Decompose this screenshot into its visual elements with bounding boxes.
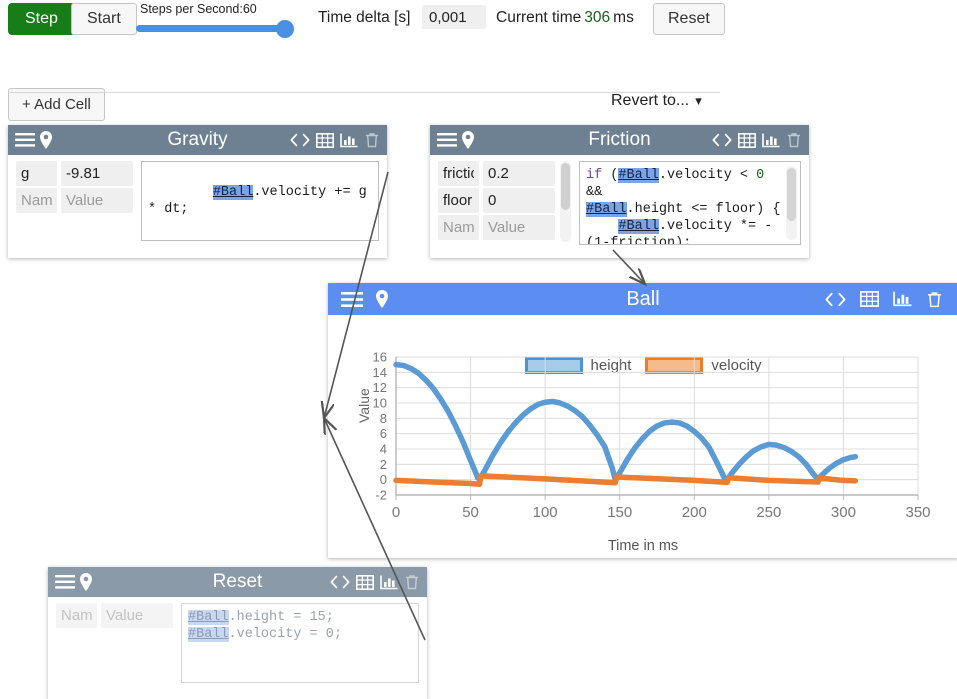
steps-per-second-label: Steps per Second:60 bbox=[136, 2, 308, 16]
param-list-scrollbar[interactable] bbox=[560, 161, 571, 242]
current-time-unit: ms bbox=[613, 9, 634, 26]
param-list bbox=[16, 161, 133, 241]
cell-gravity-header: Gravity bbox=[8, 125, 387, 155]
new-param-name-input[interactable] bbox=[16, 188, 57, 213]
code-text: .height = 15; bbox=[229, 610, 334, 625]
svg-text:16: 16 bbox=[373, 350, 387, 365]
param-row-new bbox=[16, 188, 133, 213]
new-param-value-input[interactable] bbox=[101, 603, 173, 628]
cell-reference[interactable]: #Ball bbox=[188, 627, 229, 642]
param-row bbox=[438, 161, 555, 186]
toolbar-divider bbox=[8, 92, 720, 93]
revert-to-dropdown[interactable]: Revert to...▾ bbox=[611, 92, 702, 110]
svg-text:0: 0 bbox=[380, 472, 387, 487]
chart-icon[interactable] bbox=[762, 133, 780, 148]
param-value-input[interactable] bbox=[483, 161, 555, 186]
param-name-input[interactable] bbox=[438, 188, 479, 213]
cell-friction[interactable]: Friction bbox=[430, 125, 809, 258]
svg-text:6: 6 bbox=[380, 426, 387, 441]
chevron-down-icon: ▾ bbox=[695, 93, 702, 109]
cell-reset-header: Reset bbox=[48, 567, 427, 597]
menu-icon[interactable] bbox=[437, 133, 457, 147]
steps-per-second-control: Steps per Second:60 bbox=[136, 2, 308, 37]
cell-reference[interactable]: #Ball bbox=[188, 610, 229, 625]
code-icon[interactable] bbox=[825, 292, 846, 307]
svg-text:50: 50 bbox=[462, 504, 479, 521]
code-editor[interactable]: #Ball.velocity += g * dt; bbox=[141, 161, 379, 241]
param-row-new bbox=[438, 215, 555, 240]
svg-text:-2: -2 bbox=[375, 488, 387, 503]
cell-reset-body: #Ball.height = 15; #Ball.velocity = 0; bbox=[48, 597, 427, 693]
slider-track bbox=[136, 25, 288, 32]
svg-text:350: 350 bbox=[905, 504, 930, 521]
pin-icon[interactable] bbox=[39, 131, 53, 149]
code-text: .velocity = 0; bbox=[229, 627, 342, 642]
steps-per-second-slider[interactable] bbox=[136, 19, 302, 37]
new-param-value-input[interactable] bbox=[483, 215, 555, 240]
table-icon[interactable] bbox=[356, 575, 374, 590]
chart-icon[interactable] bbox=[380, 575, 398, 590]
cell-reference[interactable]: #Ball bbox=[618, 168, 659, 183]
current-time-label: Current time bbox=[496, 9, 581, 26]
cell-ball[interactable]: Ball height bbox=[328, 283, 957, 558]
param-name-input[interactable] bbox=[438, 161, 479, 186]
svg-text:200: 200 bbox=[682, 504, 707, 521]
svg-text:10: 10 bbox=[373, 396, 387, 411]
table-icon[interactable] bbox=[316, 133, 334, 148]
chart-icon[interactable] bbox=[893, 291, 912, 307]
svg-text:250: 250 bbox=[756, 504, 781, 521]
pin-icon[interactable] bbox=[79, 573, 93, 591]
pin-icon[interactable] bbox=[461, 131, 475, 149]
code-icon[interactable] bbox=[330, 575, 350, 589]
svg-text:100: 100 bbox=[533, 504, 558, 521]
code-text: ( bbox=[602, 168, 618, 183]
chart-x-axis-label: Time in ms bbox=[328, 538, 957, 554]
cell-reference[interactable]: #Ball bbox=[586, 202, 627, 217]
menu-icon[interactable] bbox=[341, 292, 363, 307]
code-editor[interactable]: #Ball.height = 15; #Ball.velocity = 0; bbox=[181, 603, 419, 683]
scrollbar-thumb[interactable] bbox=[561, 163, 570, 210]
toolbar-secondary: + Add Cell Revert to...▾ bbox=[0, 42, 957, 88]
cell-gravity[interactable]: Gravity bbox=[8, 125, 387, 258]
code-scrollbar[interactable] bbox=[786, 166, 797, 240]
svg-text:2: 2 bbox=[380, 457, 387, 472]
code-icon[interactable] bbox=[712, 133, 732, 147]
code-editor[interactable]: if (#Ball.velocity < 0 && #Ball.height <… bbox=[579, 161, 801, 245]
current-time-readout: Current time306ms bbox=[496, 9, 634, 27]
param-value-input[interactable] bbox=[483, 188, 555, 213]
new-param-name-input[interactable] bbox=[56, 603, 97, 628]
cell-reference[interactable]: #Ball bbox=[213, 185, 254, 200]
new-param-value-input[interactable] bbox=[61, 188, 133, 213]
svg-text:300: 300 bbox=[831, 504, 856, 521]
step-button[interactable]: Step bbox=[8, 3, 75, 35]
code-text: .velocity += g * dt; bbox=[148, 185, 375, 217]
cell-reset[interactable]: Reset bbox=[48, 567, 427, 699]
revert-to-label: Revert to... bbox=[611, 92, 689, 109]
chart-icon[interactable] bbox=[340, 133, 358, 148]
param-row-new bbox=[56, 603, 173, 628]
reset-button[interactable]: Reset bbox=[653, 3, 725, 35]
ball-chart: height velocity Value -20246810121416050… bbox=[328, 315, 957, 558]
toolbar-primary: Step Start Steps per Second:60 Time delt… bbox=[0, 0, 957, 42]
table-icon[interactable] bbox=[860, 291, 879, 307]
trash-icon[interactable] bbox=[926, 291, 943, 308]
menu-icon[interactable] bbox=[55, 575, 75, 589]
svg-text:150: 150 bbox=[607, 504, 632, 521]
code-icon[interactable] bbox=[290, 133, 310, 147]
svg-text:8: 8 bbox=[380, 411, 387, 426]
code-text: .velocity < bbox=[659, 168, 756, 183]
svg-text:12: 12 bbox=[373, 380, 387, 395]
pin-icon[interactable] bbox=[375, 290, 389, 308]
cell-reference[interactable]: #Ball bbox=[618, 219, 659, 234]
param-list bbox=[56, 603, 173, 683]
time-delta-input[interactable] bbox=[422, 5, 486, 29]
cell-ball-header: Ball bbox=[328, 283, 957, 315]
chart-plot: -20246810121416050100150200250300350 bbox=[328, 347, 957, 547]
table-icon[interactable] bbox=[738, 133, 756, 148]
param-value-input[interactable] bbox=[61, 161, 133, 186]
param-row bbox=[16, 161, 133, 186]
trash-icon[interactable] bbox=[364, 132, 380, 148]
slider-thumb[interactable] bbox=[276, 20, 294, 38]
trash-icon[interactable] bbox=[404, 574, 420, 590]
cell-gravity-body: #Ball.velocity += g * dt; bbox=[8, 155, 387, 251]
param-name-input[interactable] bbox=[16, 161, 57, 186]
new-param-name-input[interactable] bbox=[438, 215, 479, 240]
time-delta-label: Time delta [s] bbox=[318, 9, 410, 27]
svg-text:4: 4 bbox=[380, 442, 387, 457]
trash-icon[interactable] bbox=[786, 132, 802, 148]
svg-text:0: 0 bbox=[392, 504, 400, 521]
scrollbar-thumb[interactable] bbox=[787, 168, 796, 221]
code-keyword: if bbox=[586, 168, 602, 183]
cell-friction-body: if (#Ball.velocity < 0 && #Ball.height <… bbox=[430, 155, 809, 255]
cell-friction-header: Friction bbox=[430, 125, 809, 155]
current-time-value: 306 bbox=[581, 9, 613, 26]
start-button[interactable]: Start bbox=[71, 3, 137, 35]
menu-icon[interactable] bbox=[15, 133, 35, 147]
param-list-wrap bbox=[438, 161, 571, 245]
svg-text:14: 14 bbox=[373, 365, 387, 380]
param-row bbox=[438, 188, 555, 213]
